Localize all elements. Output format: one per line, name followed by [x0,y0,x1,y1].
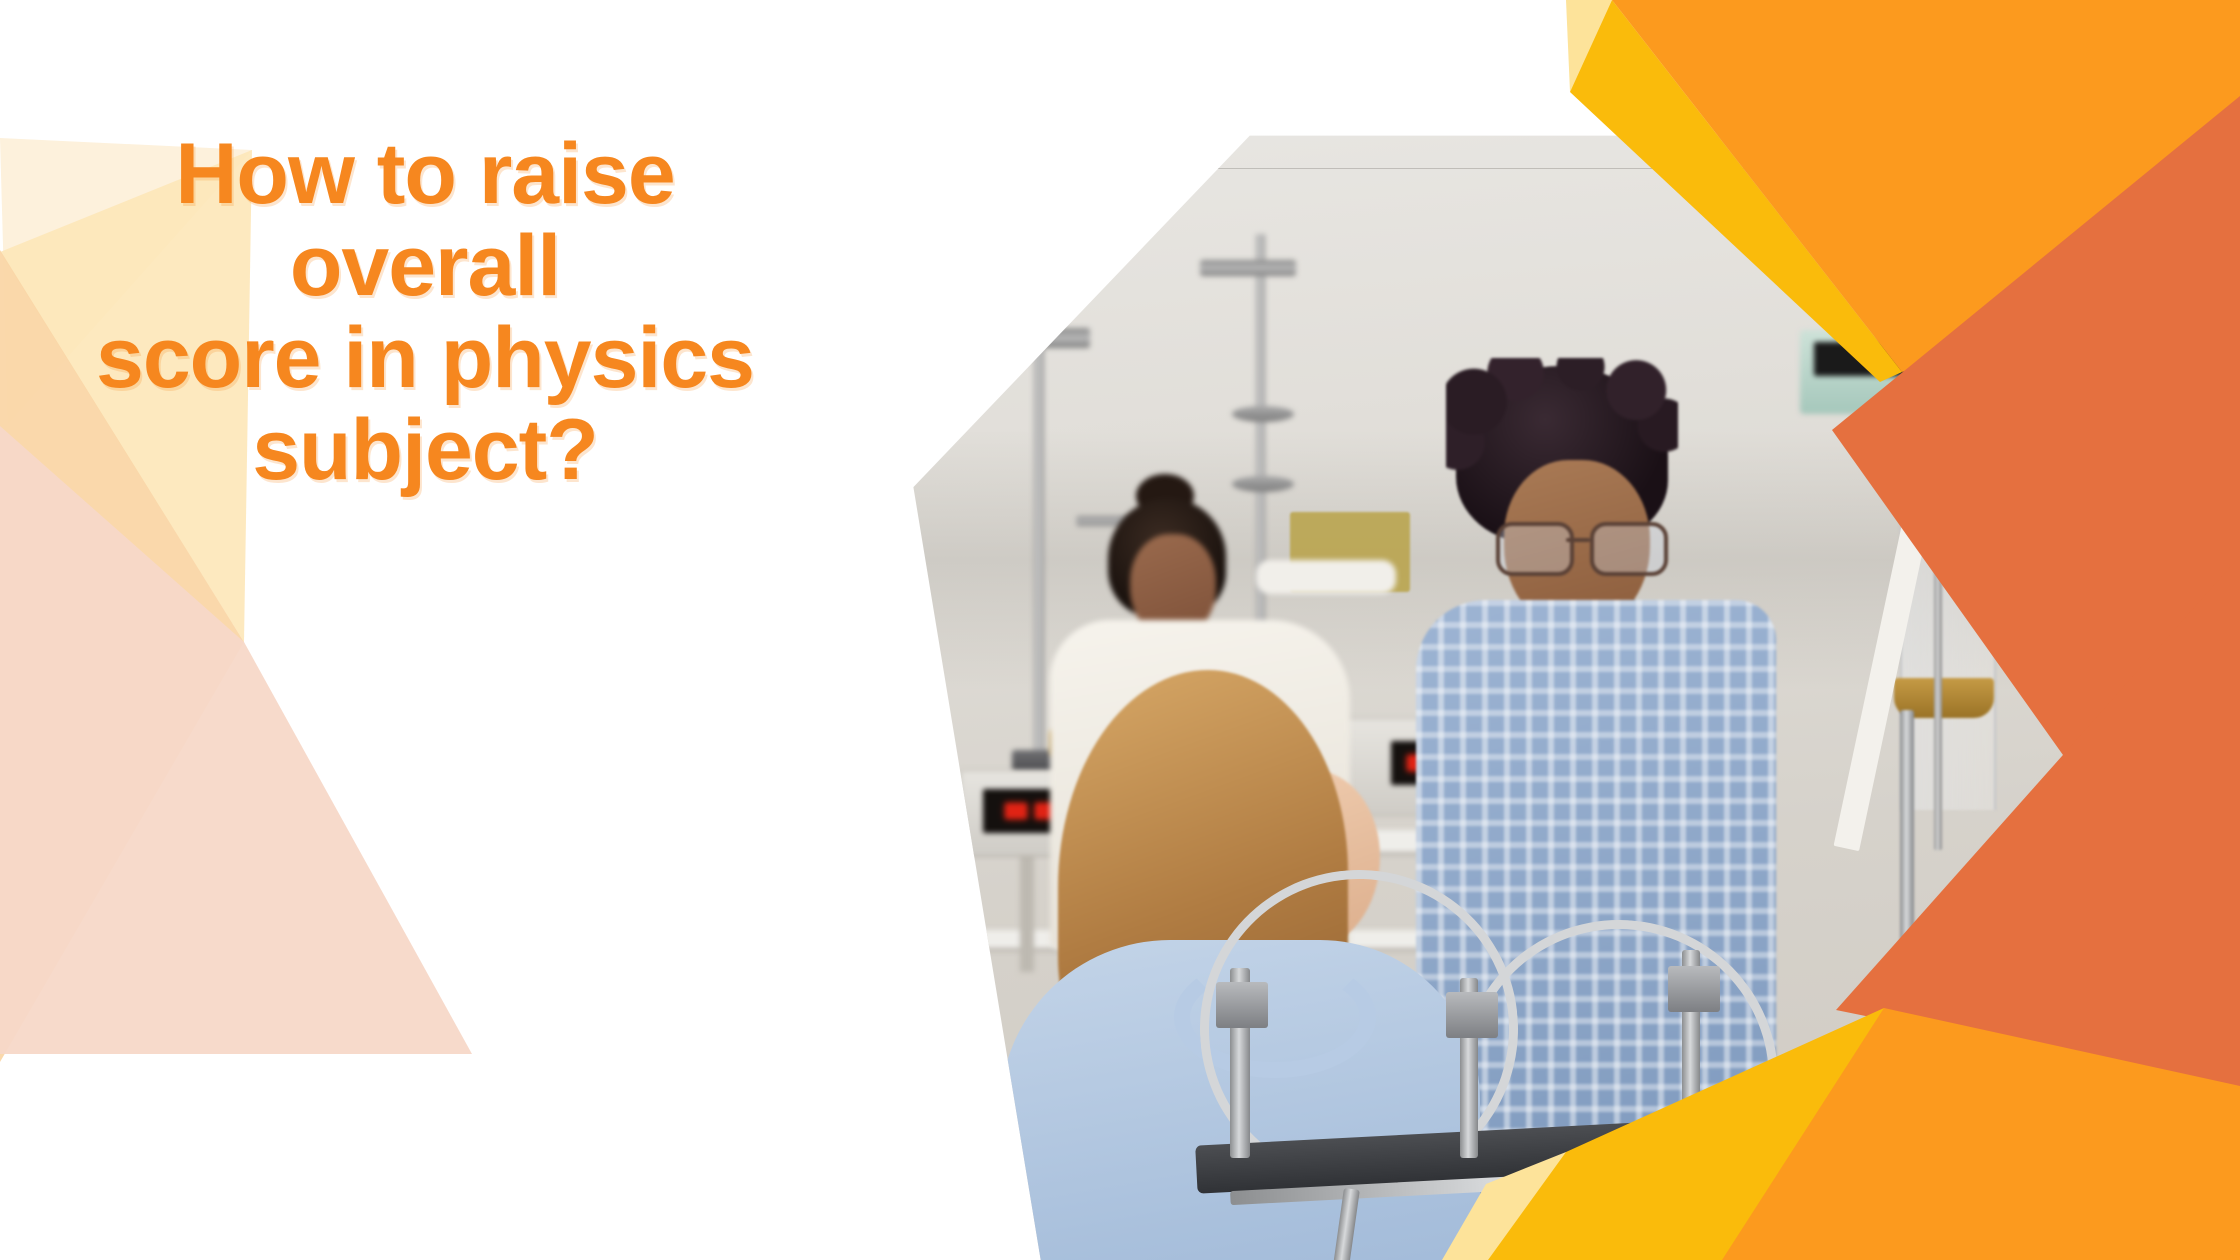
glasses-icon [1496,522,1668,572]
lab-scene [900,130,2240,1260]
column-support [1900,710,1914,1040]
retort-stand-arm [1200,260,1296,276]
glass-column [1900,380,1996,810]
stand-disc [1232,406,1294,422]
rig-clamp [1446,992,1498,1038]
pale-yellow-facet [1566,0,1612,92]
white-tubing [1256,560,1396,594]
slide-canvas: How to raise overall score in physics su… [0,0,2240,1260]
led-digit [1005,803,1027,819]
title-line-2: score in physics [60,312,790,404]
bench-leg [1020,852,1034,972]
ceiling-sensor-icon [1093,150,1135,198]
valve-head [2058,626,2168,678]
rig-clamp [1668,966,1720,1012]
glasses-bridge [1566,538,1590,542]
wall-seam [900,168,2240,169]
stand-disc [1232,476,1294,492]
retort-stand-post [1034,330,1044,760]
glasses-lens-right [1590,522,1668,576]
title-line-3: subject? [60,404,790,496]
physics-lab-photo [900,130,2240,1260]
rig-clamp [1216,982,1268,1028]
strap-pulley [1902,370,1946,396]
title-line-1: How to raise overall [60,128,790,312]
slide-title: How to raise overall score in physics su… [60,128,790,496]
blush-triangle [0,426,472,1054]
retort-stand-arm [1018,328,1090,348]
glasses-lens-left [1496,522,1574,576]
column-rod [1934,430,1942,850]
